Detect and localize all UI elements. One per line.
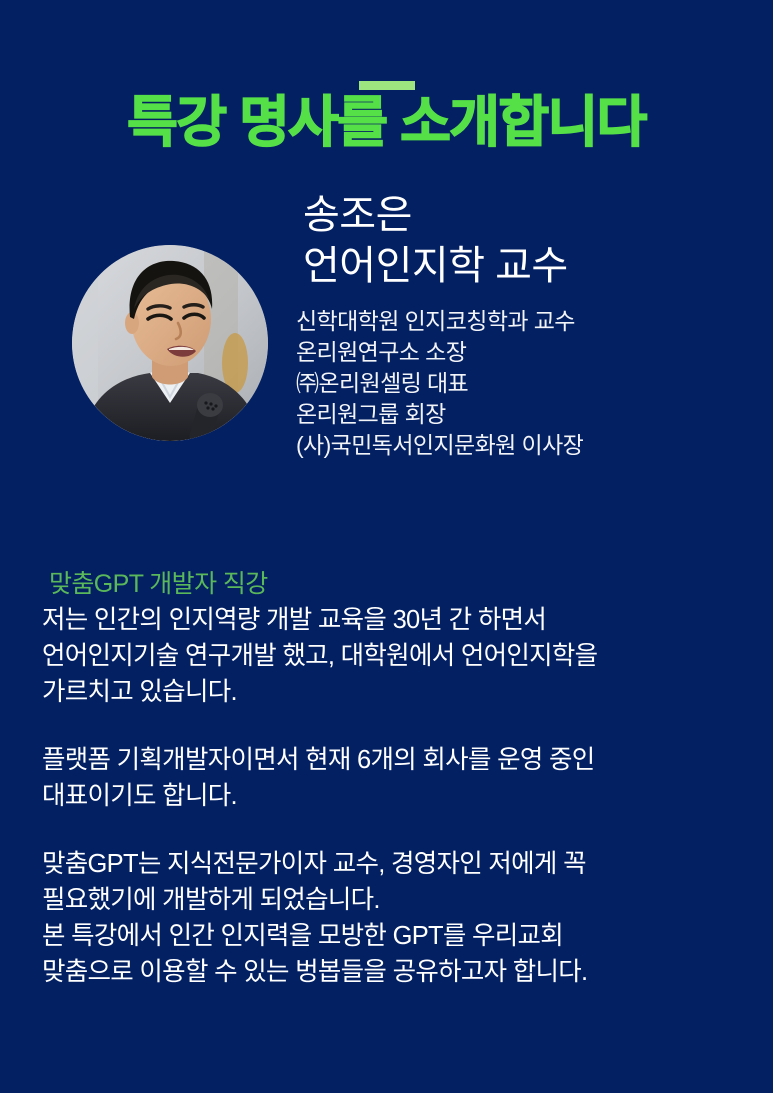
paragraph-2: 플랫폼 기획개발자이면서 현재 6개의 회사를 운영 중인 대표이기도 합니다.: [42, 742, 757, 814]
paragraph-1: 저는 인간의 인지역량 개발 교육을 30년 간 하면서 언어인지기술 연구개발…: [42, 602, 757, 710]
portrait-illustration: [72, 245, 268, 441]
speaker-credentials-list: 신학대학원 인지코칭학과 교수 온리원연구소 소장 ㈜온리원셀링 대표 온리원그…: [296, 306, 766, 461]
description-section: 맞춤GPT 개발자 직강 저는 인간의 인지역량 개발 교육을 30년 간 하면…: [42, 566, 757, 990]
credential-item: (사)국민독서인지문화원 이사장: [296, 430, 766, 461]
speaker-portrait-photo: [72, 245, 268, 441]
paragraph-line: 맞춤GPT는 지식전문가이자 교수, 경영자인 저에게 꼭: [42, 846, 757, 882]
credential-item: 온리원그룹 회장: [296, 399, 766, 430]
speaker-name: 송조은: [296, 190, 766, 240]
header-banner: 특강 명사를 소개합니다: [0, 0, 773, 175]
paragraph-line: 본 특강에서 인간 인지력을 모방한 GPT를 우리교회: [42, 918, 757, 954]
paragraph-line: 맞춤으로 이용할 수 있는 벙봅들을 공유하고자 합니다.: [42, 954, 757, 990]
section-kicker: 맞춤GPT 개발자 직강: [42, 566, 757, 602]
paragraph-line: 언어인지기술 연구개발 했고, 대학원에서 언어인지학을: [42, 638, 757, 674]
credential-item: 신학대학원 인지코칭학과 교수: [296, 306, 766, 337]
title-dash-icon: [359, 81, 415, 90]
credential-item: ㈜온리원셀링 대표: [296, 368, 766, 399]
paragraph-3: 맞춤GPT는 지식전문가이자 교수, 경영자인 저에게 꼭 필요했기에 개발하게…: [42, 846, 757, 918]
speaker-role: 언어인지학 교수: [296, 240, 766, 292]
paragraph-line: 플랫폼 기획개발자이면서 현재 6개의 회사를 운영 중인: [42, 742, 757, 778]
paragraph-line: 대표이기도 합니다.: [42, 778, 757, 814]
paragraph-line: 저는 인간의 인지역량 개발 교육을 30년 간 하면서: [42, 602, 757, 638]
paragraph-line: 필요했기에 개발하게 되었습니다.: [42, 882, 757, 918]
speaker-profile: 송조은 언어인지학 교수 신학대학원 인지코칭학과 교수 온리원연구소 소장 ㈜…: [0, 190, 773, 530]
paragraph-4: 본 특강에서 인간 인지력을 모방한 GPT를 우리교회 맞춤으로 이용할 수 …: [42, 918, 757, 990]
speaker-text-block: 송조은 언어인지학 교수 신학대학원 인지코칭학과 교수 온리원연구소 소장 ㈜…: [296, 190, 766, 477]
page-title: 특강 명사를 소개합니다: [0, 92, 773, 152]
credential-item: 온리원연구소 소장: [296, 337, 766, 368]
paragraph-line: 가르치고 있습니다.: [42, 674, 757, 710]
